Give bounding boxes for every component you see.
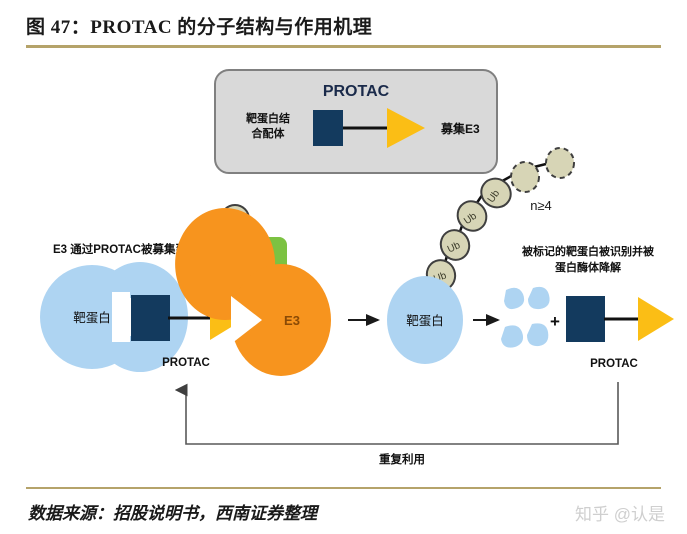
recycle-label: 重复利用 [379,452,425,466]
legend-right-label: 募集E3 [440,121,480,136]
stage-right-caption-line2: 蛋白酶体降解 [555,260,621,274]
protac-right-triangle-icon [638,297,674,341]
protac-right-square-icon [566,296,605,342]
protac-legend-box: PROTAC 靶蛋白结 合配体 募集E3 [215,70,497,173]
page-title: 图 47：PROTAC 的分子结构与作用机理 [26,12,372,39]
fragment-4 [527,323,548,346]
ub-unit-dashed-2 [546,148,574,178]
protac-left-square-icon [131,295,170,341]
protac-right-label: PROTAC [590,358,638,370]
ligand-square-icon [313,110,343,146]
legend-left-label-line1: 靶蛋白结 [246,111,290,125]
plus-sign: + [550,312,560,331]
footer-divider [26,487,661,489]
fragment-2 [528,287,550,309]
e3-ligase: E3 [175,208,331,376]
target-protein-right: 靶蛋白 [387,276,463,364]
ub-chain-count-label: n≥4 [530,198,552,213]
target-protein-right-label: 靶蛋白 [406,313,444,328]
figure-page: 图 47：PROTAC 的分子结构与作用机理 PROTAC 靶蛋白结 合配体 [0,0,687,534]
target-protein-left-label: 靶蛋白 [73,310,111,325]
legend-left-label-line2: 合配体 [252,126,286,140]
protac-molecule-right: PROTAC [566,296,674,370]
diagram-canvas: PROTAC 靶蛋白结 合配体 募集E3 E3 通过PROTAC被募集到靶蛋白 … [0,52,687,484]
ub-unit-dashed-1 [511,162,539,192]
recycle-loop: 重复利用 [186,382,618,466]
fragment-1 [504,288,524,309]
degraded-fragments [501,287,550,348]
legend-title: PROTAC [323,83,390,100]
ub-unit-2: Ub [436,225,474,264]
e3-label: E3 [284,313,300,328]
fragment-3 [501,325,523,347]
watermark: 知乎 @认是 [575,500,665,525]
source-note: 数据来源：招股说明书，西南证券整理 [28,499,317,524]
recycle-arrow-path [186,382,618,444]
stage-right-caption-line1: 被标记的靶蛋白被识别并被 [522,244,655,258]
title-divider [26,45,661,48]
protac-left-label: PROTAC [162,357,210,369]
